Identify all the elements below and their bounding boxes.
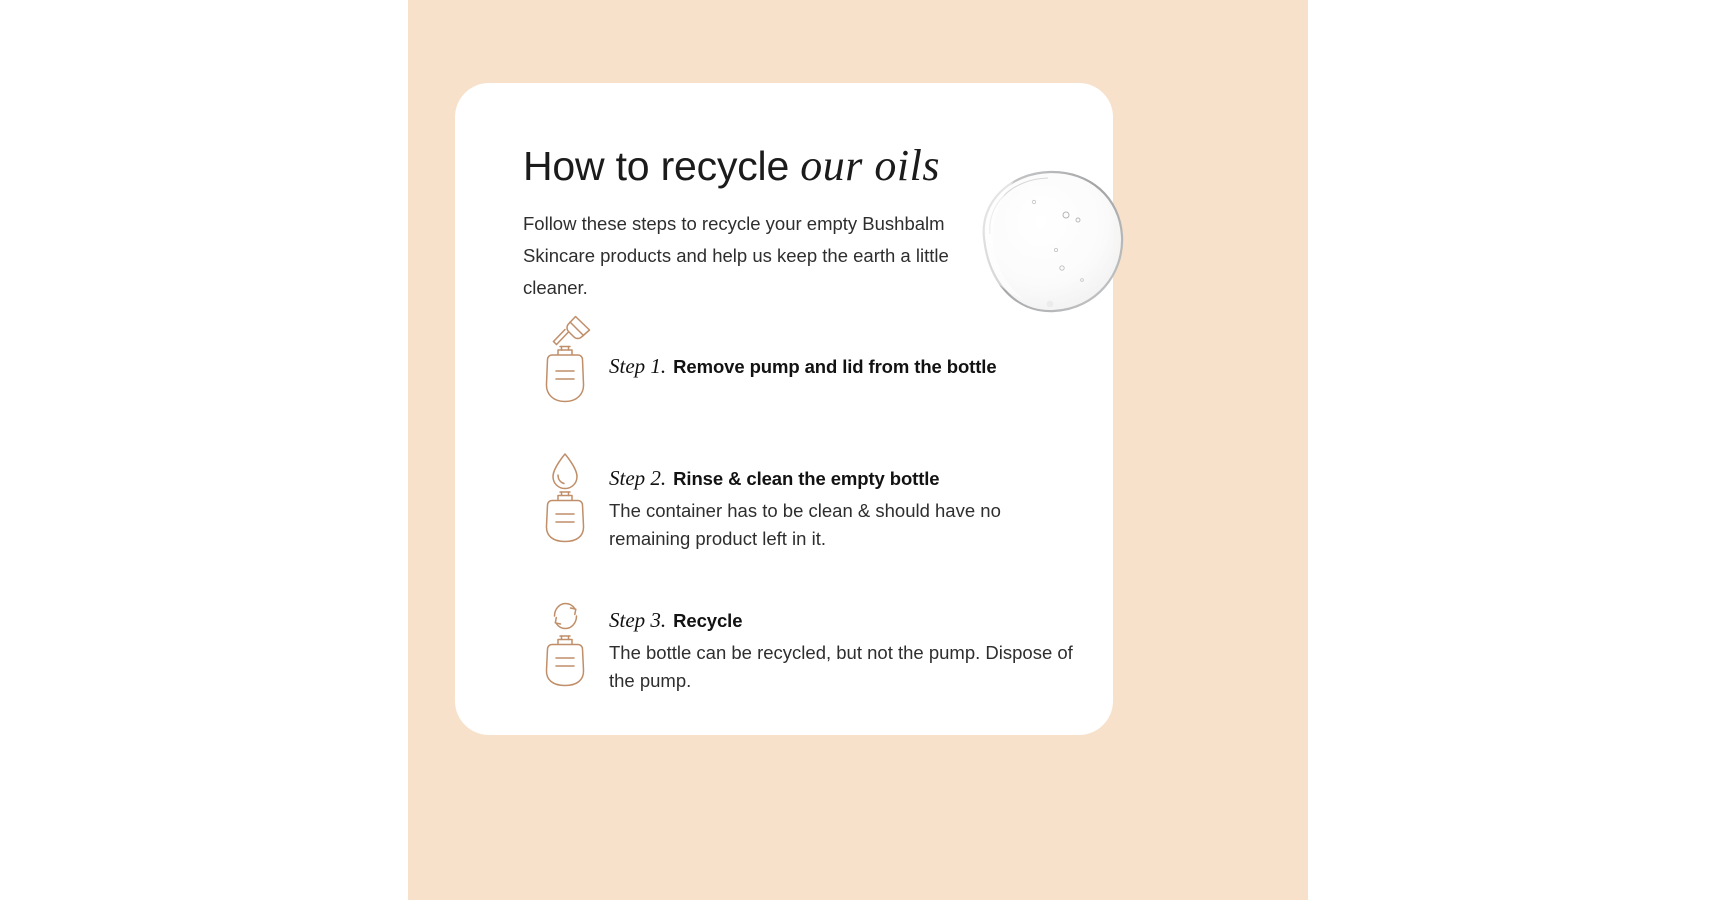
- step-3-description: The bottle can be recycled, but not the …: [609, 639, 1083, 695]
- page-stage: How to recycle our oils Follow these ste…: [0, 0, 1718, 900]
- step-item-1: Step 1.Remove pump and lid from the bott…: [523, 310, 1083, 422]
- step-2-body: Step 2.Rinse & clean the empty bottle Th…: [609, 448, 1083, 552]
- step-1-body: Step 1.Remove pump and lid from the bott…: [609, 310, 1083, 382]
- step-2-description: The container has to be clean & should h…: [609, 497, 1083, 553]
- step-3-body: Step 3.Recycle The bottle can be recycle…: [609, 592, 1083, 694]
- steps-list: Step 1.Remove pump and lid from the bott…: [523, 310, 1083, 702]
- bottle-with-recycle-arrows-icon: [534, 592, 598, 690]
- bottle-with-dropper-icon: [534, 310, 598, 408]
- step-1-label: Step 1.: [609, 354, 666, 378]
- header-text-column: How to recycle our oils Follow these ste…: [523, 140, 1083, 303]
- page-title-regular: How to recycle: [523, 143, 800, 189]
- intro-paragraph: Follow these steps to recycle your empty…: [523, 208, 953, 303]
- step-1-icon-cell: [523, 310, 609, 408]
- step-1-title: Remove pump and lid from the bottle: [673, 356, 996, 377]
- step-3-icon-cell: [523, 592, 609, 690]
- page-title-italic: our oils: [800, 141, 940, 190]
- step-item-2: Step 2.Rinse & clean the empty bottle Th…: [523, 448, 1083, 566]
- bottle-with-water-drop-icon: [534, 448, 598, 546]
- step-item-3: Step 3.Recycle The bottle can be recycle…: [523, 592, 1083, 702]
- page-title: How to recycle our oils: [523, 140, 1083, 192]
- step-3-label: Step 3.: [609, 608, 666, 632]
- step-2-label: Step 2.: [609, 466, 666, 490]
- step-2-icon-cell: [523, 448, 609, 546]
- step-2-title: Rinse & clean the empty bottle: [673, 468, 939, 489]
- step-2-heading: Step 2.Rinse & clean the empty bottle: [609, 464, 1083, 494]
- step-3-heading: Step 3.Recycle: [609, 606, 1083, 636]
- step-1-heading: Step 1.Remove pump and lid from the bott…: [609, 352, 1083, 382]
- step-3-title: Recycle: [673, 610, 742, 631]
